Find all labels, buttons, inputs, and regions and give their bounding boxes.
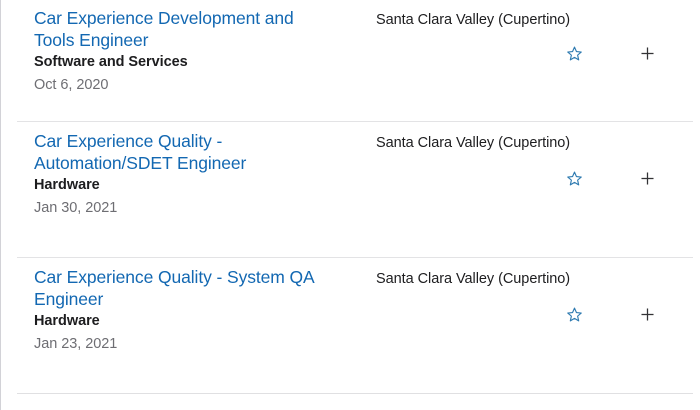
job-result-row[interactable]: Car Experience Quality - Automation/SDET… bbox=[17, 122, 693, 258]
star-outline-icon bbox=[566, 306, 583, 323]
favorite-button[interactable] bbox=[561, 165, 587, 191]
job-row-actions bbox=[559, 40, 669, 66]
favorite-button[interactable] bbox=[561, 40, 587, 66]
add-to-compare-button[interactable] bbox=[634, 301, 660, 327]
job-posted-date: Jan 30, 2021 bbox=[34, 199, 344, 218]
job-result-row[interactable]: Car Experience Quality - System QA Engin… bbox=[17, 258, 693, 394]
job-location-label: Santa Clara Valley (Cupertino) bbox=[376, 270, 606, 289]
plus-icon bbox=[639, 170, 656, 187]
plus-icon bbox=[639, 306, 656, 323]
job-row-main: Car Experience Quality - System QA Engin… bbox=[34, 267, 344, 354]
job-location-label: Santa Clara Valley (Cupertino) bbox=[376, 134, 606, 153]
add-to-compare-button[interactable] bbox=[634, 165, 660, 191]
job-row-inner: Car Experience Quality - Automation/SDET… bbox=[34, 122, 669, 257]
job-posted-date: Jan 23, 2021 bbox=[34, 335, 344, 354]
star-outline-icon bbox=[566, 45, 583, 62]
star-outline-icon bbox=[566, 170, 583, 187]
job-location-label: Santa Clara Valley (Cupertino) bbox=[376, 11, 606, 30]
job-team-label: Hardware bbox=[34, 312, 344, 331]
job-row-inner: Car Experience Development and Tools Eng… bbox=[34, 0, 669, 121]
job-title-link[interactable]: Car Experience Quality - Automation/SDET… bbox=[34, 131, 334, 174]
job-row-inner: Car Experience Quality - System QA Engin… bbox=[34, 258, 669, 393]
add-to-compare-button[interactable] bbox=[634, 40, 660, 66]
job-title-link[interactable]: Car Experience Development and Tools Eng… bbox=[34, 8, 334, 51]
job-title-link[interactable]: Car Experience Quality - System QA Engin… bbox=[34, 267, 334, 310]
job-row-actions bbox=[559, 165, 669, 191]
job-row-actions bbox=[559, 301, 669, 327]
job-row-main: Car Experience Quality - Automation/SDET… bbox=[34, 131, 344, 218]
favorite-button[interactable] bbox=[561, 301, 587, 327]
job-row-main: Car Experience Development and Tools Eng… bbox=[34, 8, 344, 95]
job-team-label: Hardware bbox=[34, 176, 344, 195]
job-posted-date: Oct 6, 2020 bbox=[34, 76, 344, 95]
job-result-row[interactable]: Car Experience Development and Tools Eng… bbox=[17, 0, 693, 122]
plus-icon bbox=[639, 45, 656, 62]
job-results-list: Car Experience Development and Tools Eng… bbox=[0, 0, 700, 410]
job-team-label: Software and Services bbox=[34, 53, 344, 72]
